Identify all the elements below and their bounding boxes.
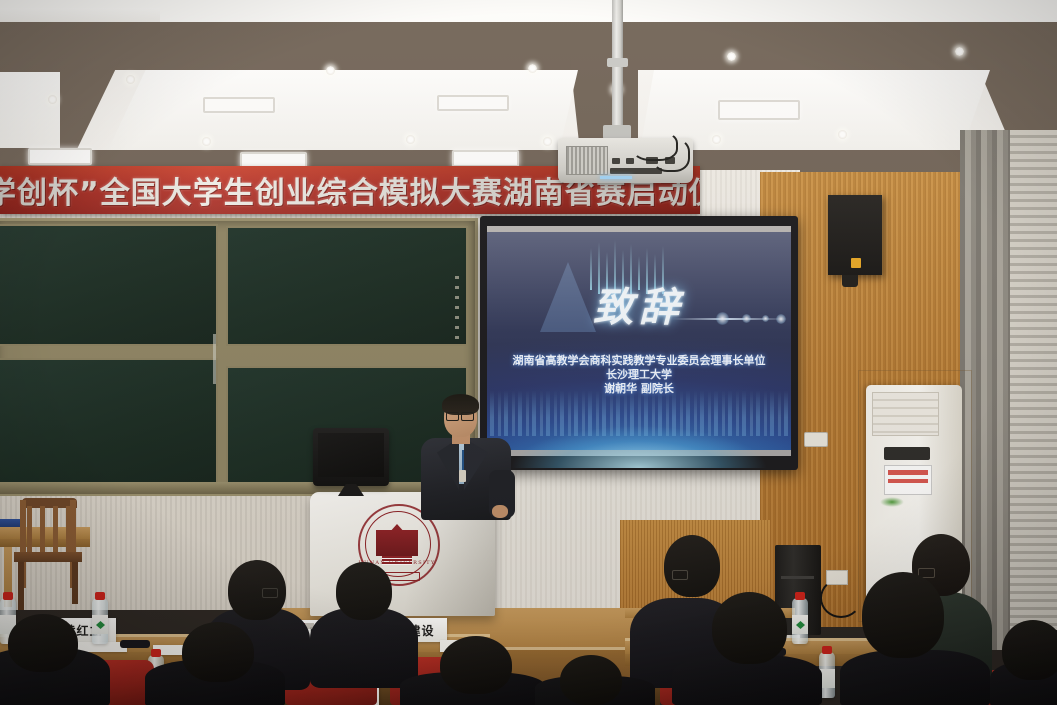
person-head	[664, 535, 720, 597]
ac-leaf-decal	[880, 497, 904, 507]
blackboard-pane-top-right	[226, 226, 468, 346]
chair-leg	[72, 562, 78, 604]
downlight	[712, 135, 721, 144]
chair-seat	[14, 552, 82, 562]
downlight	[955, 47, 964, 56]
projector-port	[612, 158, 620, 164]
downlight	[202, 137, 211, 146]
chair-slat	[27, 506, 32, 554]
slide-title: 致辞	[487, 275, 791, 333]
downlight	[326, 66, 335, 75]
ac-warning-label	[884, 465, 932, 495]
projector-mount-pole	[612, 0, 623, 140]
ceiling	[0, 0, 1057, 172]
pc-power-cord	[820, 578, 862, 618]
chair-leg	[18, 562, 24, 610]
bottle-cap	[822, 646, 832, 654]
projector-bracket	[603, 125, 631, 139]
ceiling-troffer-5	[718, 100, 800, 120]
bottle-cap	[3, 592, 13, 600]
person-head	[8, 614, 78, 672]
presenter-glasses-right	[461, 412, 474, 421]
ac-label-graphic	[888, 470, 928, 490]
chalk-mark	[213, 334, 216, 384]
ceiling-troffer-2	[437, 95, 509, 111]
ceiling-troffer-4	[452, 150, 519, 167]
chair-slat	[53, 506, 58, 554]
blackboard-side-markings	[455, 276, 459, 346]
downlight	[126, 75, 135, 84]
person-head	[862, 572, 944, 658]
person-head	[182, 622, 254, 682]
ceiling-frame-band	[0, 22, 1057, 70]
projector-pole-joint	[607, 58, 628, 67]
person-glasses	[672, 570, 688, 580]
ceiling-panel-far-left	[0, 8, 160, 22]
downlight	[528, 64, 537, 73]
conference-hall-photo: 学创杯”全国大学生创业综合模拟大赛湖南省赛启动仪式 致辞 湖南省高教学会商科实践…	[0, 0, 1057, 705]
downlight	[406, 135, 415, 144]
ceiling-troffer-6	[28, 148, 92, 165]
slide-globe	[487, 408, 791, 468]
projector-status-led	[600, 176, 632, 179]
person-head	[440, 636, 512, 694]
pc-optical-drive	[781, 576, 814, 579]
bottle-cap	[795, 592, 805, 600]
downlight	[727, 52, 736, 61]
presenter-lanyard	[462, 450, 464, 472]
mobile-phone	[120, 640, 150, 648]
person-body	[310, 608, 418, 688]
person-glasses	[262, 588, 278, 598]
ceiling-panel-right	[640, 70, 990, 150]
projector-panel	[610, 168, 662, 174]
person-head	[336, 562, 392, 620]
person-head	[1002, 620, 1057, 680]
ceiling-troffer-1	[203, 97, 275, 113]
projector-cable	[652, 138, 690, 172]
wall-power-socket	[804, 432, 828, 447]
bottle-cap	[95, 592, 105, 600]
monitor-screen	[318, 433, 384, 477]
blackboard-pane-top-left	[0, 224, 218, 346]
speaker-brand-logo	[851, 258, 861, 268]
presenter-glasses-left	[446, 412, 459, 421]
ac-display-panel	[884, 447, 930, 460]
window-blinds	[1010, 130, 1057, 630]
blackboard-pane-bottom-left	[0, 358, 218, 486]
person-body	[840, 650, 990, 705]
presenter-hand	[492, 505, 508, 518]
person-head	[712, 592, 787, 664]
person-head	[560, 655, 622, 705]
projector-port	[626, 158, 634, 164]
speaker-bracket	[842, 275, 858, 287]
bottle-cap	[151, 649, 161, 657]
downlight	[48, 95, 57, 104]
downlight	[543, 137, 552, 146]
side-desk	[0, 527, 90, 539]
presenter-badge	[459, 470, 466, 482]
projector-vent	[566, 146, 608, 175]
side-desk-front	[0, 539, 90, 547]
downlight	[838, 130, 847, 139]
ac-vent	[872, 392, 939, 436]
chair-slat	[40, 506, 45, 554]
ceiling-panel-left	[0, 72, 60, 148]
